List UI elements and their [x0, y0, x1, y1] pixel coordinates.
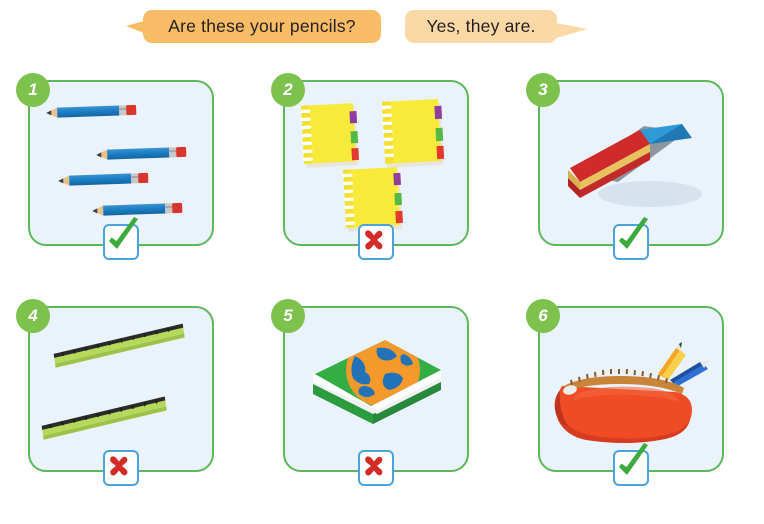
cross-icon: [362, 454, 386, 478]
item-number-badge: 4: [16, 299, 50, 333]
cross-icon: [362, 228, 386, 252]
bubble-tail-right-icon: [556, 23, 588, 38]
item-number-badge: 3: [526, 73, 560, 107]
speech-bubble-question: Are these your pencils?: [143, 10, 381, 43]
notebooks-illustration: [285, 82, 467, 244]
question-text: Are these your pencils?: [168, 16, 355, 37]
check-mark-box[interactable]: [613, 450, 649, 486]
check-icon: [608, 213, 654, 259]
bubble-tail-left-icon: [126, 21, 144, 33]
exercise-item-1[interactable]: 1: [28, 72, 214, 252]
item-card: 3: [538, 80, 724, 246]
item-number-badge: 2: [271, 73, 305, 107]
exercise-item-4[interactable]: 4: [28, 298, 214, 478]
item-number-badge: 1: [16, 73, 50, 107]
check-mark-box[interactable]: [613, 224, 649, 260]
exercise-item-2[interactable]: 2: [283, 72, 469, 252]
exercise-item-6[interactable]: 6: [538, 298, 724, 478]
item-card: 5: [283, 306, 469, 472]
item-number-badge: 6: [526, 299, 560, 333]
item-card: 1: [28, 80, 214, 246]
exercise-row-1: 1: [0, 72, 764, 298]
exercise-row-2: 4: [0, 298, 764, 524]
item-card: 2: [283, 80, 469, 246]
cross-mark-box[interactable]: [358, 450, 394, 486]
rulers-illustration: [30, 308, 212, 470]
item-number-badge: 5: [271, 299, 305, 333]
exercise-item-5[interactable]: 5: [283, 298, 469, 478]
check-icon: [98, 213, 144, 259]
exercise-item-3[interactable]: 3: [538, 72, 724, 252]
dialogue-row: Are these your pencils? Yes, they are.: [0, 0, 764, 62]
exercise-grid: 1: [0, 72, 764, 524]
item-card: 4: [28, 306, 214, 472]
atlas-book-illustration: [285, 308, 467, 470]
cross-mark-box[interactable]: [358, 224, 394, 260]
check-icon: [608, 439, 654, 485]
answer-text: Yes, they are.: [426, 16, 535, 37]
speech-bubble-answer: Yes, they are.: [405, 10, 557, 43]
cross-mark-box[interactable]: [103, 450, 139, 486]
item-card: 6: [538, 306, 724, 472]
cross-icon: [107, 454, 131, 478]
check-mark-box[interactable]: [103, 224, 139, 260]
